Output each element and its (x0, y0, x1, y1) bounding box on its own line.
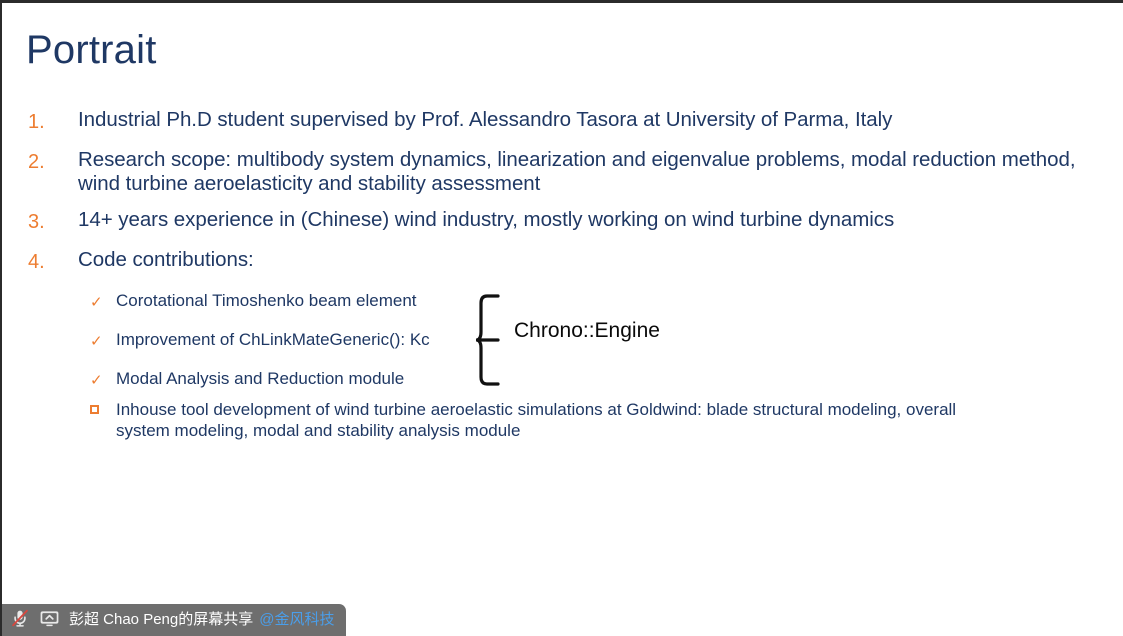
share-bar-label: 彭超 Chao Peng的屏幕共享 (69, 604, 253, 636)
brace-annotation-group: Chrono::Engine (476, 294, 706, 386)
list-marker-3: 3. (28, 208, 78, 236)
screen-share-icon[interactable] (39, 608, 60, 633)
list-item: 3. 14+ years experience in (Chinese) win… (28, 208, 1088, 236)
share-bar-org-label: @金风科技 (259, 604, 334, 636)
square-bullet-list: Inhouse tool development of wind turbine… (90, 399, 1050, 441)
check-icon: ✓ (90, 368, 116, 392)
check-text-2: Improvement of ChLinkMateGeneric(): Kc (116, 329, 430, 351)
square-bullet-icon (90, 399, 116, 414)
list-text-4: Code contributions: (78, 248, 254, 272)
list-text-3: 14+ years experience in (Chinese) wind i… (78, 208, 894, 232)
brace-label: Chrono::Engine (514, 318, 660, 344)
list-text-2: Research scope: multibody system dynamic… (78, 148, 1088, 196)
list-marker-1: 1. (28, 108, 78, 136)
page-title: Portrait (26, 26, 157, 74)
numbered-list: 1. Industrial Ph.D student supervised by… (28, 108, 1088, 288)
list-item: 2. Research scope: multibody system dyna… (28, 148, 1088, 196)
square-bullet-text: Inhouse tool development of wind turbine… (116, 399, 1011, 441)
screen-share-bar[interactable]: 彭超 Chao Peng的屏幕共享 @金风科技 (2, 604, 346, 636)
list-marker-2: 2. (28, 148, 78, 176)
list-item: Inhouse tool development of wind turbine… (90, 399, 1050, 441)
presentation-slide: Portrait 1. Industrial Ph.D student supe… (0, 0, 1123, 636)
microphone-muted-icon[interactable] (10, 608, 30, 633)
list-item: 4. Code contributions: (28, 248, 1088, 276)
check-text-3: Modal Analysis and Reduction module (116, 368, 404, 390)
list-item: 1. Industrial Ph.D student supervised by… (28, 108, 1088, 136)
list-text-1: Industrial Ph.D student supervised by Pr… (78, 108, 892, 132)
check-text-1: Corotational Timoshenko beam element (116, 290, 417, 312)
check-icon: ✓ (90, 290, 116, 314)
list-marker-4: 4. (28, 248, 78, 276)
check-icon: ✓ (90, 329, 116, 353)
